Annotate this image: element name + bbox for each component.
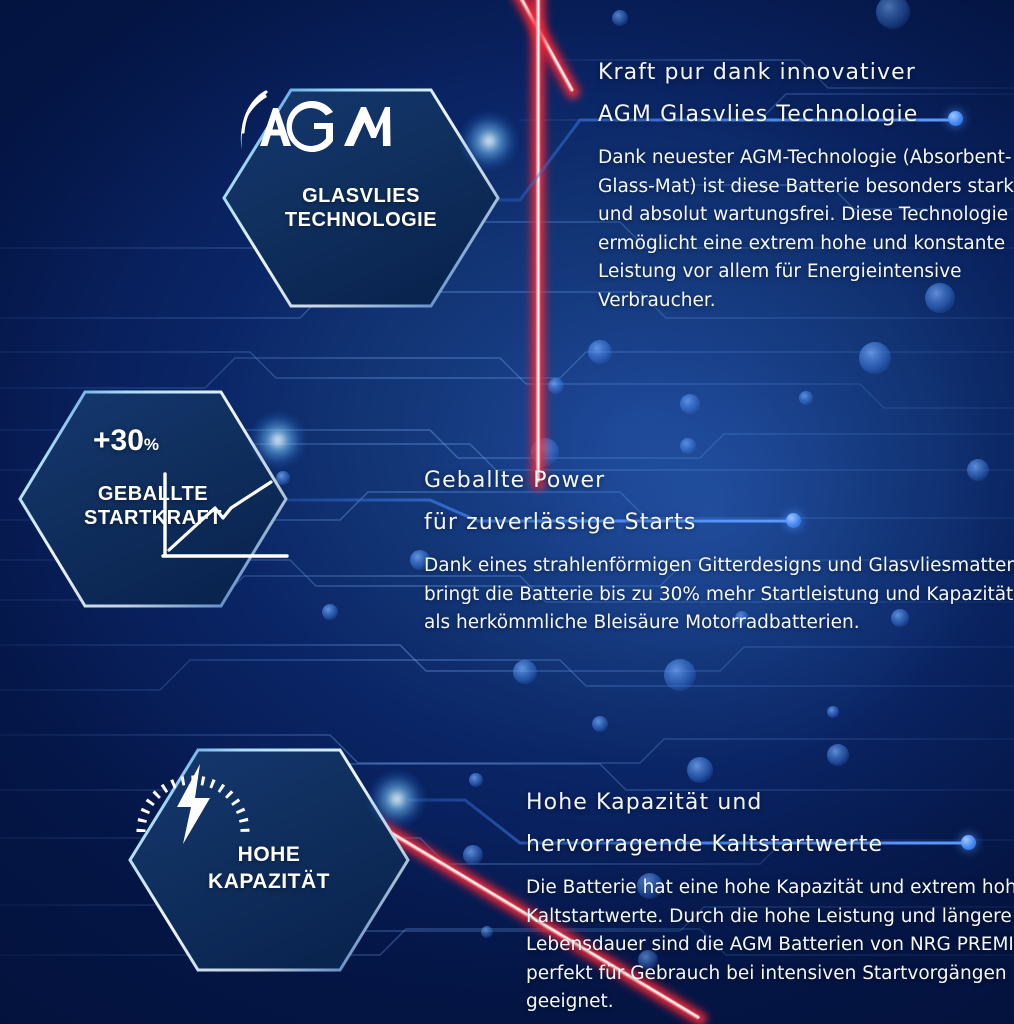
infographic-canvas: GLASVLIES TECHNOLOGIE <box>0 0 1014 1024</box>
body-line: geeignet. <box>526 988 1014 1017</box>
badge-value: +30 <box>93 424 144 457</box>
body-line: Die Batterie hat eine hohe Kapazität und… <box>526 874 1014 903</box>
heading-line: Hohe Kapazität und <box>526 782 1014 824</box>
card-title-line: GLASVLIES <box>285 184 437 208</box>
badge-unit: % <box>144 435 159 454</box>
heading-line: Geballte Power <box>424 460 1014 502</box>
heading-line: AGM Glasvlies Technologie <box>598 94 1014 136</box>
text-block-geballte-power: Geballte Power für zuverlässige Starts D… <box>424 460 1014 638</box>
body-line: Dank eines strahlenförmigen Gitterdesign… <box>424 552 1014 581</box>
body-line: Glass-Mat) ist diese Batterie besonders … <box>598 173 1014 202</box>
body-line: Dank neuester AGM-Technologie (Absorbent… <box>598 144 1014 173</box>
body-line: Lebensdauer sind die AGM Batterien von N… <box>526 931 1014 960</box>
heading-line: für zuverlässige Starts <box>424 502 1014 544</box>
card-title-line: KAPAZITÄT <box>208 868 330 895</box>
feature-card-agm-glasvlies[interactable]: GLASVLIES TECHNOLOGIE <box>222 88 500 308</box>
block-body: Dank eines strahlenförmigen Gitterdesign… <box>424 552 1014 638</box>
body-line: als herkömmliche Bleisäure Motorradbatte… <box>424 609 1014 638</box>
heading-line: Kraft pur dank innovativer <box>598 52 1014 94</box>
block-heading: Geballte Power für zuverlässige Starts <box>424 460 1014 544</box>
text-block-agm-glasvlies: Kraft pur dank innovativer AGM Glasvlies… <box>598 52 1014 315</box>
body-line: ermöglicht eine extrem hohe und konstant… <box>598 230 1014 259</box>
card-title: GLASVLIES TECHNOLOGIE <box>285 184 437 233</box>
body-line: Leistung vor allem für Energieintensive <box>598 258 1014 287</box>
feature-card-geballte-startkraft[interactable]: +30% GEBALLTE STARTKRAFT <box>18 390 288 608</box>
body-line: bringt die Batterie bis zu 30% mehr Star… <box>424 581 1014 610</box>
body-line: und absolut wartungsfrei. Diese Technolo… <box>598 201 1014 230</box>
body-line: perfekt für Gebrauch bei intensiven Star… <box>526 960 1014 989</box>
feature-card-hohe-kapazitaet[interactable]: HOHE KAPAZITÄT <box>128 748 410 972</box>
body-line: Verbraucher. <box>598 287 1014 316</box>
block-body: Dank neuester AGM-Technologie (Absorbent… <box>598 144 1014 315</box>
text-block-hohe-kapazitaet: Hohe Kapazität und hervorragende Kaltsta… <box>526 782 1014 1017</box>
card-title-line: TECHNOLOGIE <box>285 208 437 232</box>
heading-line: hervorragende Kaltstartwerte <box>526 824 1014 866</box>
block-heading: Kraft pur dank innovativer AGM Glasvlies… <box>598 52 1014 136</box>
block-body: Die Batterie hat eine hohe Kapazität und… <box>526 874 1014 1017</box>
block-heading: Hohe Kapazität und hervorragende Kaltsta… <box>526 782 1014 866</box>
body-line: Kaltstartwerte. Durch die hohe Leistung … <box>526 903 1014 932</box>
